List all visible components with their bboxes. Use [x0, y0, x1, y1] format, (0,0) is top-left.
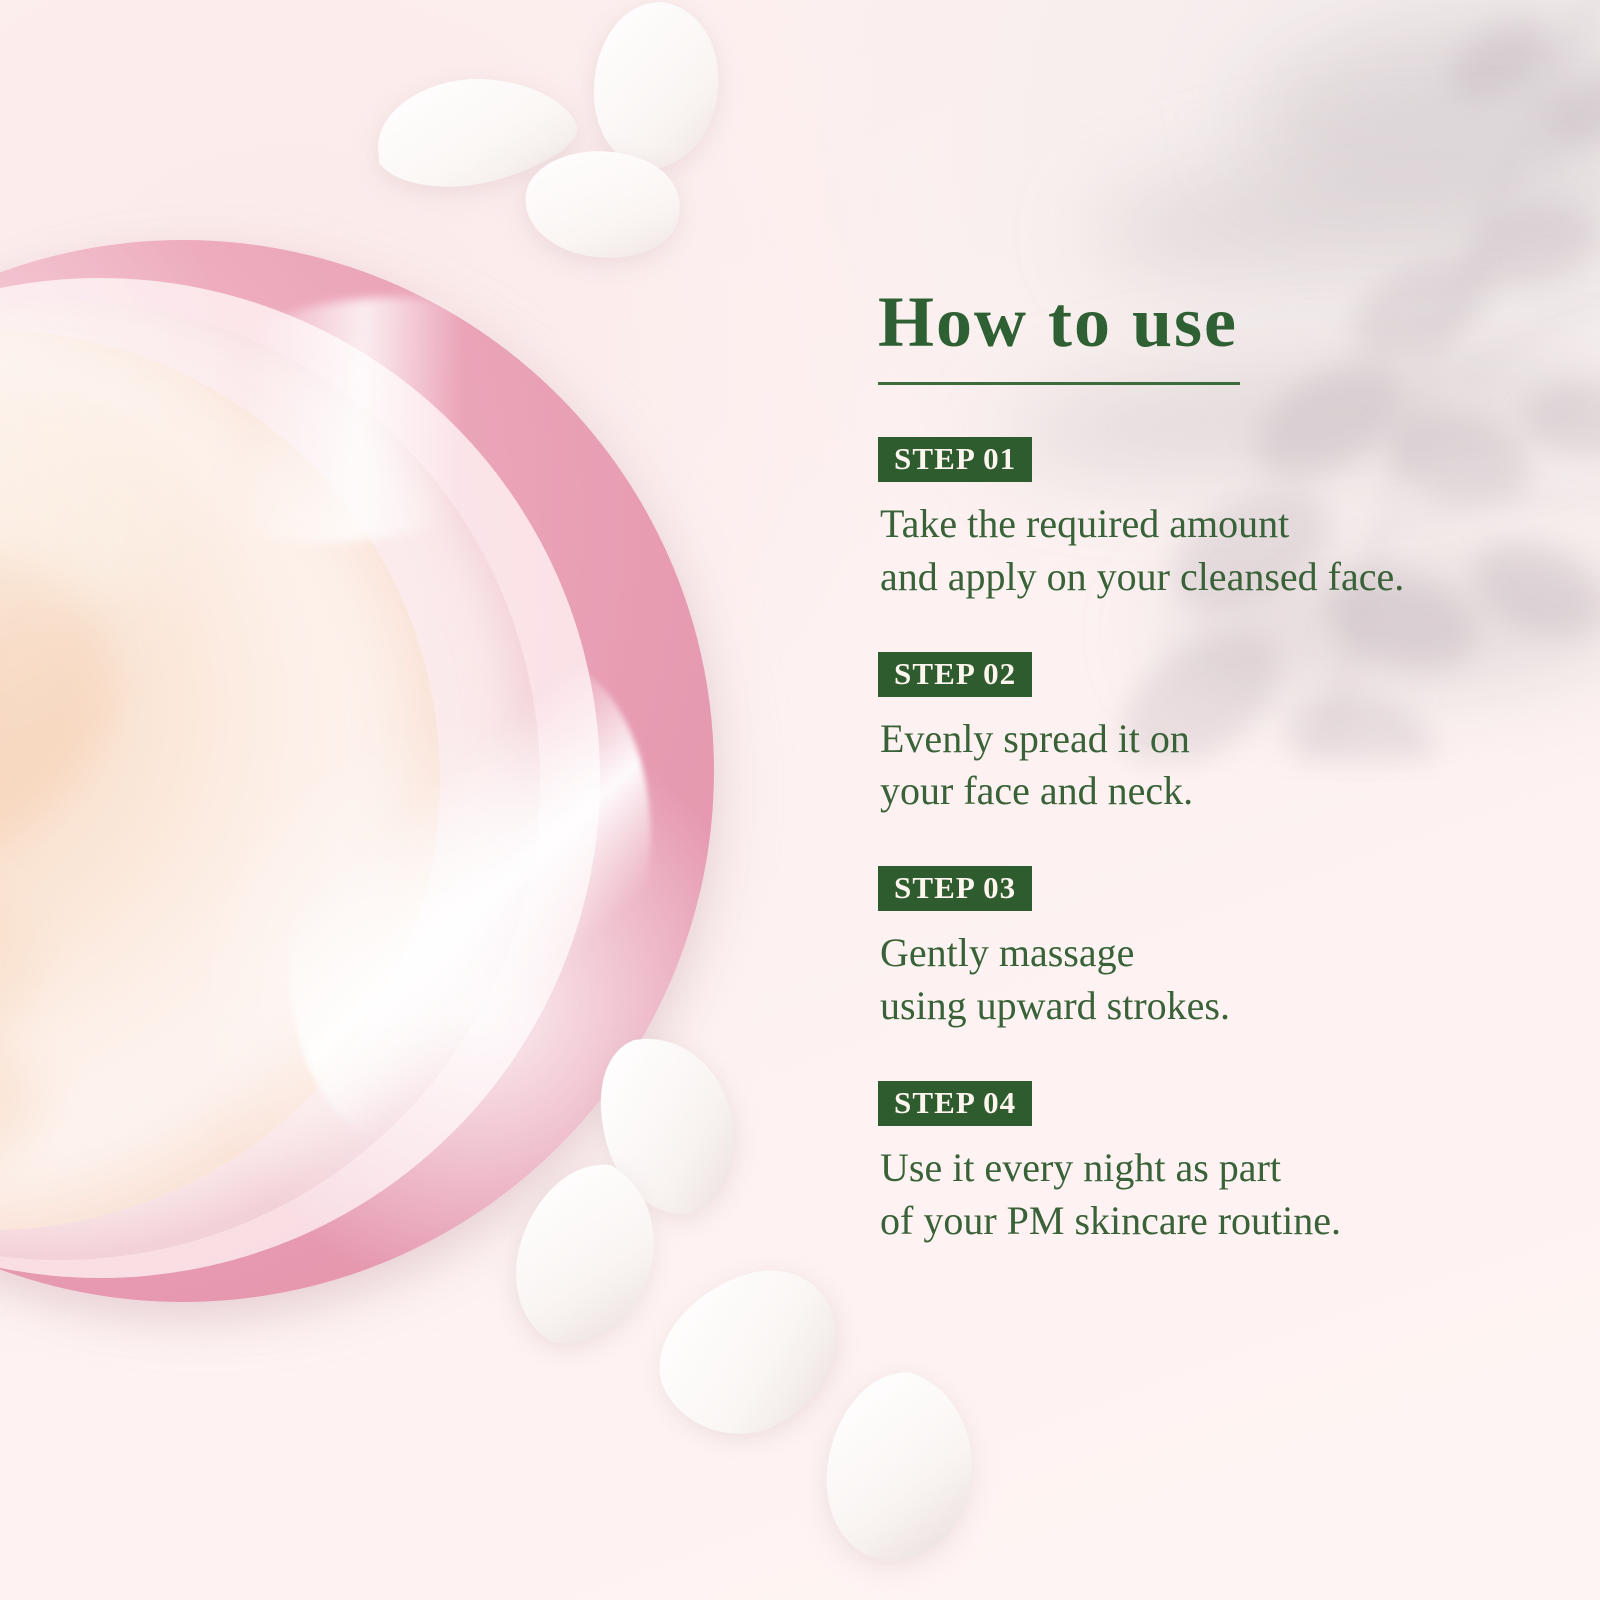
step-badge: STEP 04 [878, 1081, 1032, 1126]
page-title: How to use [866, 286, 1566, 358]
step-item: STEP 01 Take the required amount and app… [878, 437, 1566, 604]
step-badge: STEP 03 [878, 866, 1032, 911]
title-divider [878, 382, 1240, 385]
step-badge: STEP 01 [878, 437, 1032, 482]
instructions-panel: How to use STEP 01 Take the required amo… [866, 286, 1566, 1247]
step-item: STEP 04 Use it every night as part of yo… [878, 1081, 1566, 1248]
step-badge: STEP 02 [878, 652, 1032, 697]
step-item: STEP 02 Evenly spread it on your face an… [878, 652, 1566, 819]
infographic-canvas: How to use STEP 01 Take the required amo… [0, 0, 1600, 1600]
rose-petal-icon [807, 1360, 993, 1575]
step-description: Evenly spread it on your face and neck. [880, 713, 1566, 819]
step-description: Take the required amount and apply on yo… [880, 498, 1566, 604]
step-item: STEP 03 Gently massage using upward stro… [878, 866, 1566, 1033]
step-description: Gently massage using upward strokes. [880, 927, 1566, 1033]
steps-list: STEP 01 Take the required amount and app… [866, 437, 1566, 1247]
step-description: Use it every night as part of your PM sk… [880, 1142, 1566, 1248]
